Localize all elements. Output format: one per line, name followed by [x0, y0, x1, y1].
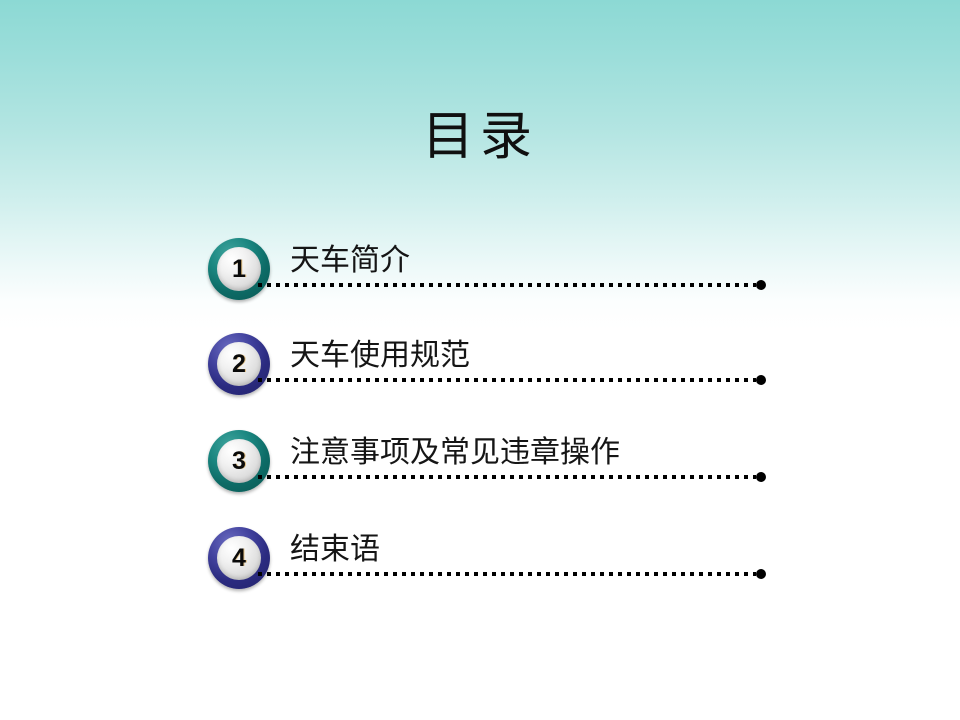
- leader-end-dot-icon: [756, 375, 766, 385]
- presentation-slide: 目录 1 天车简介 2 天车使用规范: [0, 0, 960, 720]
- dotted-leader-icon: [258, 475, 756, 479]
- toc-number-badge-3[interactable]: 3: [208, 430, 270, 492]
- badge-inner-disc: 1: [217, 247, 261, 291]
- badge-inner-disc: 3: [217, 439, 261, 483]
- toc-item-label[interactable]: 天车简介: [290, 240, 410, 282]
- toc-item-4[interactable]: 4 结束语: [208, 527, 808, 599]
- toc-item-2[interactable]: 2 天车使用规范: [208, 333, 808, 405]
- toc-number-badge-4[interactable]: 4: [208, 527, 270, 589]
- toc-number-badge-1[interactable]: 1: [208, 238, 270, 300]
- toc-item-label[interactable]: 结束语: [290, 529, 380, 571]
- toc-number-badge-2[interactable]: 2: [208, 333, 270, 395]
- toc-item-label[interactable]: 天车使用规范: [290, 335, 470, 377]
- dotted-leader-icon: [258, 283, 756, 287]
- toc-leader-line-2: [258, 377, 766, 383]
- table-of-contents: 1 天车简介 2 天车使用规范: [0, 0, 960, 720]
- toc-item-number: 1: [232, 257, 246, 282]
- toc-item-number: 2: [232, 352, 246, 377]
- dotted-leader-icon: [258, 572, 756, 576]
- toc-leader-line-1: [258, 282, 766, 288]
- leader-end-dot-icon: [756, 280, 766, 290]
- toc-item-number: 4: [232, 546, 246, 571]
- toc-leader-line-4: [258, 571, 766, 577]
- toc-item-number: 3: [232, 449, 246, 474]
- toc-leader-line-3: [258, 474, 766, 480]
- toc-item-3[interactable]: 3 注意事项及常见违章操作: [208, 430, 808, 502]
- leader-end-dot-icon: [756, 569, 766, 579]
- toc-item-1[interactable]: 1 天车简介: [208, 238, 808, 310]
- dotted-leader-icon: [258, 378, 756, 382]
- toc-item-label[interactable]: 注意事项及常见违章操作: [290, 432, 620, 474]
- badge-inner-disc: 4: [217, 536, 261, 580]
- badge-inner-disc: 2: [217, 342, 261, 386]
- leader-end-dot-icon: [756, 472, 766, 482]
